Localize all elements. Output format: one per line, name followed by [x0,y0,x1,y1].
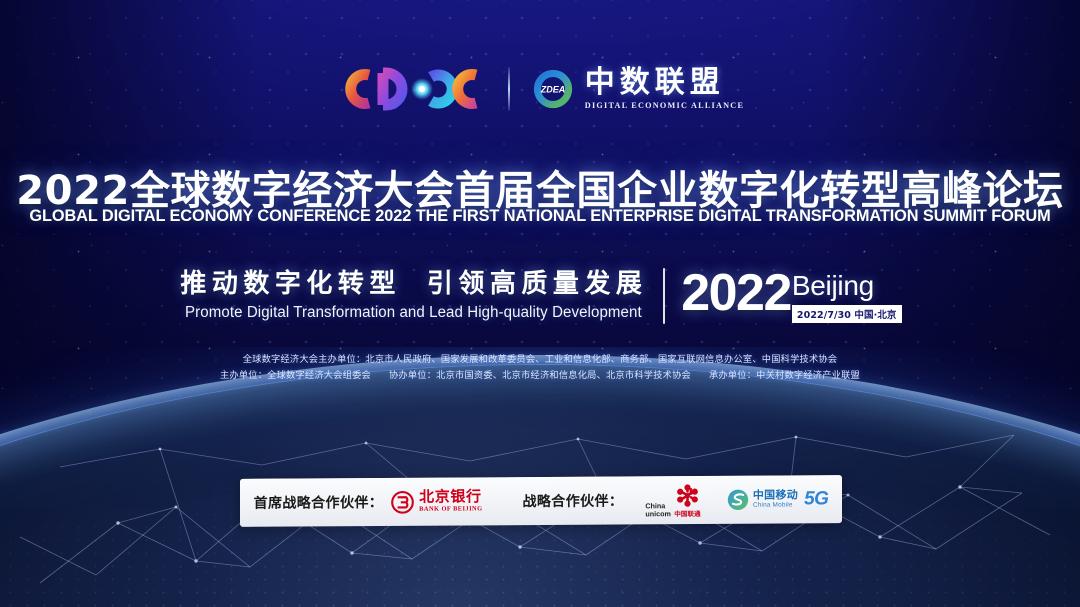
strategic-partner-label: 战略合作伙伴： [523,490,624,511]
logo-divider [508,67,510,111]
slogan-row: 推动数字化转型引领高质量发展 Promote Digital Transform… [0,263,1080,329]
china-unicom-text: China unicom [645,503,671,518]
organizer-line-2: 主办单位：全球数字经济大会组委会协办单位：北京市国资委、北京市经济和信息化局、北… [0,367,1080,381]
china-mobile-icon [727,489,749,511]
slogan-cn-part1: 推动数字化转型 [180,269,401,299]
date-badge: 2022/7/30 中国·北京 [792,305,902,323]
slogan-cn: 推动数字化转型引领高质量发展 [178,270,649,299]
year-city-block: 2022 Beijing 2022/7/30 中国·北京 [679,270,901,323]
chief-partner-label: 首席战略合作伙伴： [254,492,384,513]
organizer-host: 主办单位：全球数字经济大会组委会 [220,370,371,381]
strategic-partner-group: 战略合作伙伴： China unicom [523,482,829,519]
china-unicom-logo: China unicom [645,483,701,518]
zdea-logo: ZDEA 中数联盟 DIGITAL ECONOMIC ALLIANCE [530,66,744,112]
logo-bar: ZDEA 中数联盟 DIGITAL ECONOMIC ALLIANCE [0,58,1080,120]
organizer-undertaker: 承办单位：中关村数字经济产业联盟 [709,370,860,381]
china-mobile-logo: 中国移动 China Mobile 5G [727,488,829,511]
chief-partner-group: 首席战略合作伙伴： 北京银行 BANK OF BEIJING [254,490,483,515]
zdea-text-block: 中数联盟 DIGITAL ECONOMIC ALLIANCE [585,68,744,111]
cdec-logo [336,61,488,117]
zdea-name-en: DIGITAL ECONOMIC ALLIANCE [585,101,744,110]
main-title-en: GLOBAL DIGITAL ECONOMY CONFERENCE 2022 T… [8,206,1072,226]
sponsor-bar: 首席战略合作伙伴： 北京银行 BANK OF BEIJING 战略合作伙伴： C… [240,475,842,527]
city-block: Beijing 2022/7/30 中国·北京 [792,272,902,323]
china-unicom-icon [674,483,701,508]
china-mobile-text: 中国移动 China Mobile [753,490,798,510]
china-mobile-5g-label: 5G [804,488,828,510]
china-mobile-en: China Mobile [753,502,798,509]
china-unicom-cn: 中国联通 [674,508,700,518]
organizer-line-1: 全球数字经济大会主办单位：北京市人民政府、国家发展和改革委员会、工业和信息化部、… [0,351,1080,365]
bank-of-beijing-logo: 北京银行 BANK OF BEIJING [391,490,482,514]
slogan-text-block: 推动数字化转型引领高质量发展 Promote Digital Transform… [178,270,663,321]
slogan-cn-part2: 引领高质量发展 [427,269,648,299]
conference-banner: ZDEA 中数联盟 DIGITAL ECONOMIC ALLIANCE 2022… [0,0,1080,607]
year-label: 2022 [681,270,791,318]
china-mobile-cn: 中国移动 [753,490,798,502]
slogan-divider [663,268,665,324]
organizer-co-host: 协办单位：北京市国资委、北京市经济和信息化局、北京市科学技术协会 [389,370,691,381]
cdec-logo-icon [336,63,488,115]
zdea-name-cn: 中数联盟 [585,68,744,99]
city-label: Beijing [792,272,874,300]
bank-of-beijing-text: 北京银行 BANK OF BEIJING [419,490,482,514]
bank-of-beijing-cn: 北京银行 [419,490,482,505]
zdea-swoosh-icon: ZDEA [530,66,576,112]
slogan-en: Promote Digital Transformation and Lead … [185,304,642,322]
china-unicom-en-line2: unicom [645,510,671,518]
bank-of-beijing-en: BANK OF BEIJING [419,507,482,514]
bank-of-beijing-icon [391,490,414,513]
zdea-abbrev-text: ZDEA [540,84,566,94]
